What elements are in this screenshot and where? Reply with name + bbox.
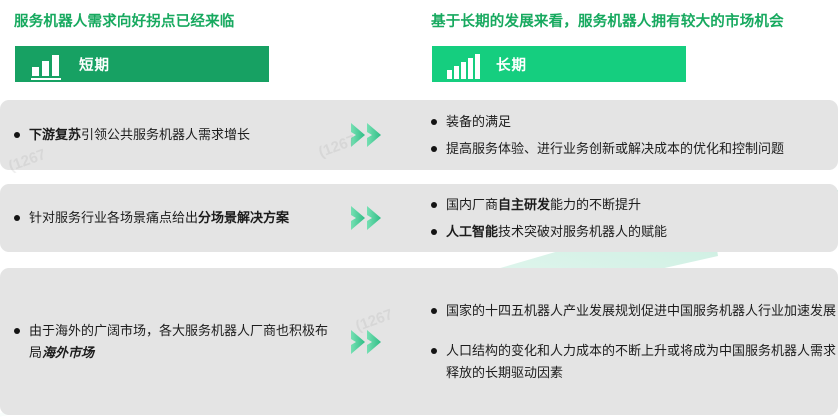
header-column-long-term: 基于长期的发展来看，服务机器人拥有较大的市场机会 长期 — [419, 0, 838, 96]
header-column-short-term: 服务机器人需求向好拐点已经来临 短期 — [0, 0, 419, 96]
row-1-left-cell: 下游复苏引领公共服务机器人需求增长 — [0, 100, 419, 170]
badge-long-term-label: 长期 — [496, 54, 527, 75]
row-1-right-bullets: 装备的满足 提高服务体验、进行业务创新或解决成本的优化和控制问题 — [431, 100, 838, 170]
list-item: 装备的满足 — [431, 111, 838, 133]
row-2-left-cell: 针对服务行业各场景痛点给出分场景解决方案 — [0, 184, 419, 252]
table-row: 下游复苏引领公共服务机器人需求增长 — [0, 100, 838, 170]
bullet-dot-icon — [14, 328, 20, 334]
double-chevron-right-icon — [350, 121, 392, 149]
emphasis: 自主研发 — [498, 197, 550, 212]
badge-short-term[interactable]: 短期 — [15, 46, 269, 82]
row-3-right-bullet-1-text: 国家的十四五机器人产业发展规划促进中国服务机器人行业加速发展 — [446, 300, 838, 322]
header-divider — [0, 90, 838, 96]
badge-long-term[interactable]: 长期 — [432, 46, 686, 82]
plain: 针对服务行业各场景痛点给出 — [29, 210, 198, 225]
list-item: 人口结构的变化和人力成本的不断上升或将成为中国服务机器人需求释放的长期驱动因素 — [431, 340, 838, 384]
ascending-bar-chart-icon — [432, 46, 496, 82]
row-2-right-bullet-1-text: 国内厂商自主研发能力的不断提升 — [446, 194, 838, 216]
table-row: 由于海外的广阔市场，各大服务机器人厂商也积极布局海外市场 国家的十四五机器人产业… — [0, 268, 838, 415]
row-2-right-bullet-2-text: 人工智能技术突破对服务机器人的赋能 — [446, 221, 838, 243]
bullet-dot-icon — [14, 132, 20, 138]
row-3-left-bullet-1-text: 由于海外的广阔市场，各大服务机器人厂商也积极布局海外市场 — [29, 320, 329, 364]
list-item: 提高服务体验、进行业务创新或解决成本的优化和控制问题 — [431, 138, 838, 160]
double-chevron-right-icon — [350, 204, 392, 232]
slide-root: 服务机器人需求向好拐点已经来临 短期 基于长期的发展来看，服务机器人拥有较大的市… — [0, 0, 838, 419]
row-1-right-bullet-1-text: 装备的满足 — [446, 111, 838, 133]
row-2-right-cell: 国内厂商自主研发能力的不断提升 人工智能技术突破对服务机器人的赋能 — [419, 184, 838, 252]
bullet-dot-icon — [431, 308, 437, 314]
plain: 国内厂商 — [446, 197, 498, 212]
double-chevron-right-icon — [350, 328, 392, 356]
bar-chart-icon — [15, 46, 79, 82]
row-1-left-bullet-1-text: 下游复苏引领公共服务机器人需求增长 — [29, 124, 329, 146]
table-row: 针对服务行业各场景痛点给出分场景解决方案 国内厂商自主研发能力的不断提升 — [0, 184, 838, 252]
list-item: 人工智能技术突破对服务机器人的赋能 — [431, 221, 838, 243]
row-3-right-bullets: 国家的十四五机器人产业发展规划促进中国服务机器人行业加速发展 人口结构的变化和人… — [431, 268, 838, 415]
plain: 引领公共服务机器人需求增长 — [81, 127, 250, 142]
row-3-right-bullet-2-text: 人口结构的变化和人力成本的不断上升或将成为中国服务机器人需求释放的长期驱动因素 — [446, 340, 838, 384]
row-1-right-bullet-2-text: 提高服务体验、进行业务创新或解决成本的优化和控制问题 — [446, 138, 838, 160]
list-item: 国家的十四五机器人产业发展规划促进中国服务机器人行业加速发展 — [431, 300, 838, 322]
row-2-right-bullets: 国内厂商自主研发能力的不断提升 人工智能技术突破对服务机器人的赋能 — [431, 184, 838, 252]
plain: 技术突破对服务机器人的赋能 — [498, 224, 667, 239]
list-item: 国内厂商自主研发能力的不断提升 — [431, 194, 838, 216]
emphasis: 人工智能 — [446, 224, 498, 239]
plain-tail: 能力的不断提升 — [550, 197, 641, 212]
bullet-dot-icon — [431, 146, 437, 152]
bullet-dot-icon — [431, 202, 437, 208]
bullet-dot-icon — [431, 229, 437, 235]
badge-short-term-label: 短期 — [79, 54, 110, 75]
bullet-dot-icon — [14, 215, 20, 221]
header: 服务机器人需求向好拐点已经来临 短期 基于长期的发展来看，服务机器人拥有较大的市… — [0, 0, 838, 96]
header-title-left: 服务机器人需求向好拐点已经来临 — [14, 10, 235, 31]
bullet-dot-icon — [431, 348, 437, 354]
emphasis: 下游复苏 — [29, 127, 81, 142]
bullet-dot-icon — [431, 119, 437, 125]
row-3-left-cell: 由于海外的广阔市场，各大服务机器人厂商也积极布局海外市场 — [0, 268, 419, 415]
emphasis: 海外市场 — [42, 345, 94, 360]
emphasis: 分场景解决方案 — [198, 210, 289, 225]
header-title-right: 基于长期的发展来看，服务机器人拥有较大的市场机会 — [431, 10, 784, 31]
row-3-right-cell: 国家的十四五机器人产业发展规划促进中国服务机器人行业加速发展 人口结构的变化和人… — [419, 268, 838, 415]
content-rows: 下游复苏引领公共服务机器人需求增长 — [0, 96, 838, 419]
row-2-left-bullet-1-text: 针对服务行业各场景痛点给出分场景解决方案 — [29, 207, 329, 229]
row-1-right-cell: 装备的满足 提高服务体验、进行业务创新或解决成本的优化和控制问题 — [419, 100, 838, 170]
